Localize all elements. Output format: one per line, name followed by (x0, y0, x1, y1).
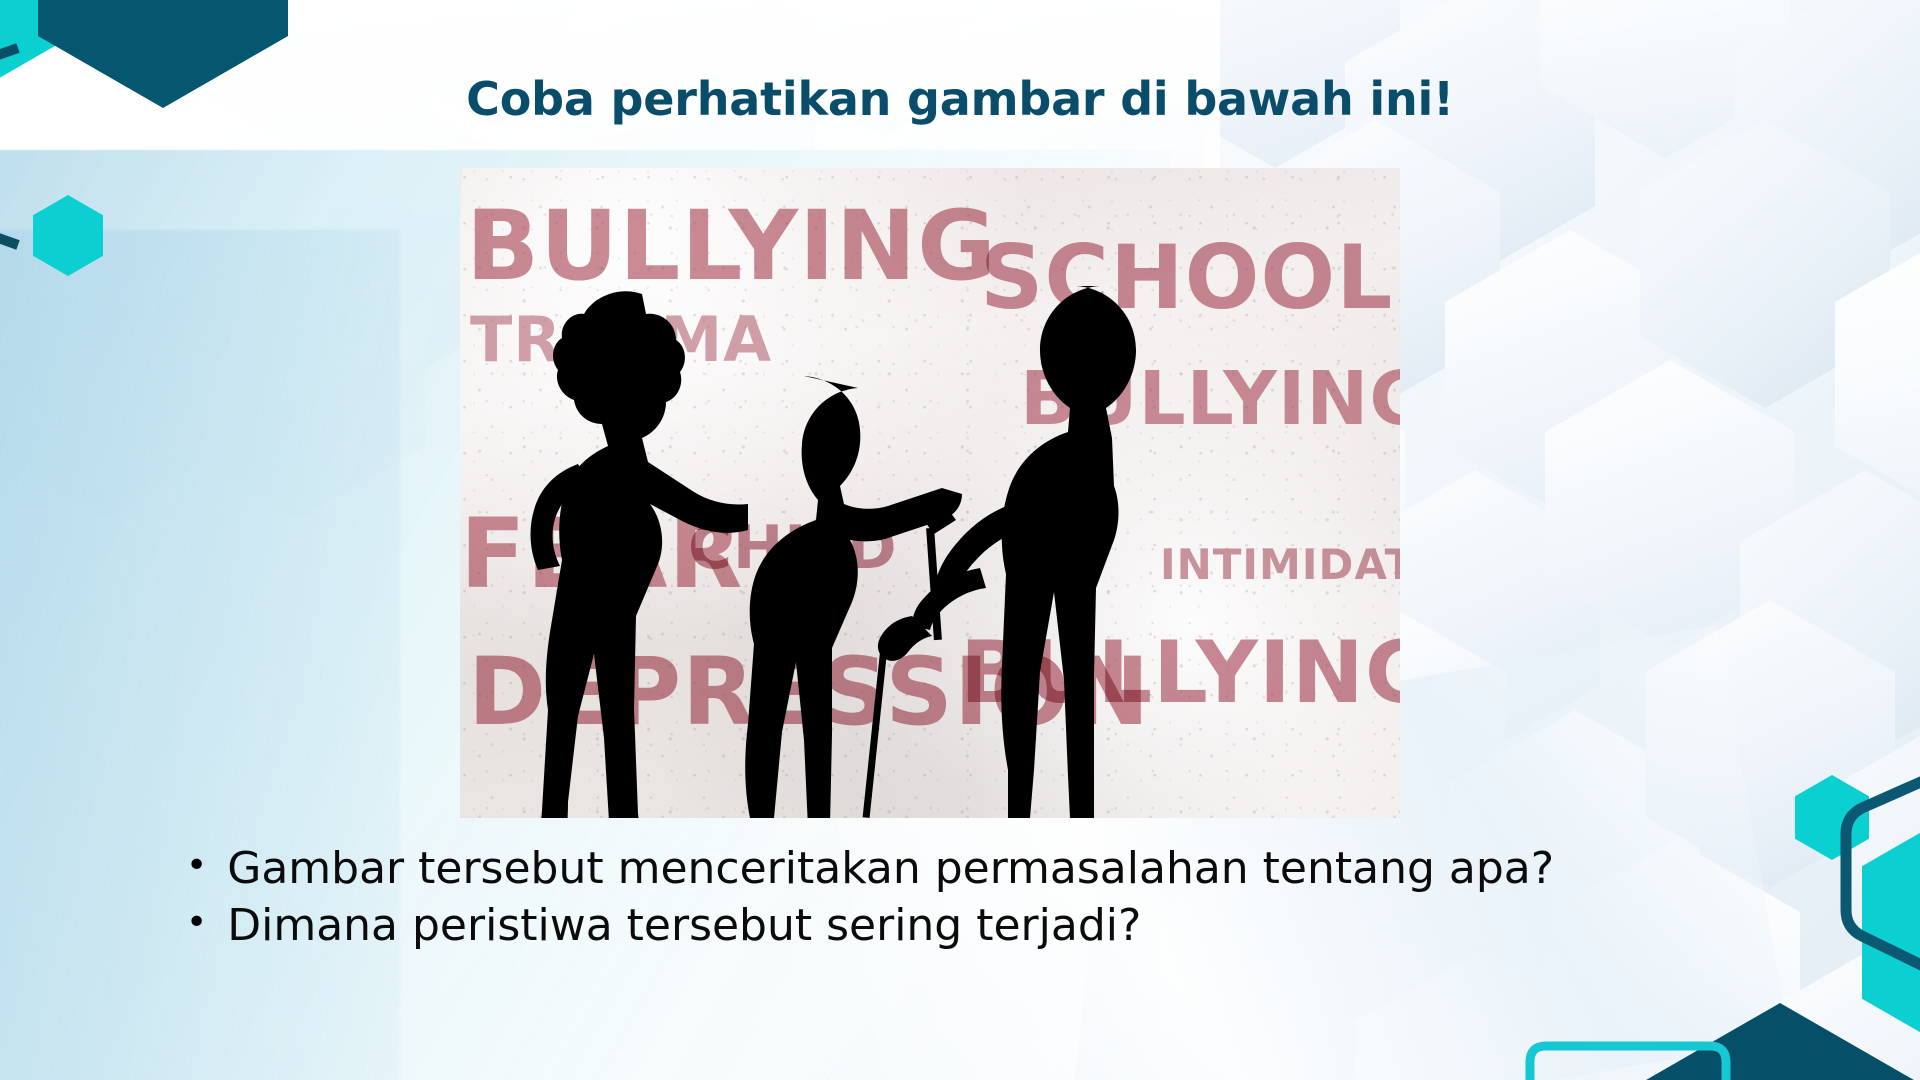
bullying-illustration: BULLYING TRAUMA SCHOOL BULLYING FEAR CHI… (460, 168, 1400, 818)
list-item: • Dimana peristiwa tersebut sering terja… (186, 897, 1746, 954)
silhouette-figures (460, 168, 1400, 818)
silhouette-bully-left (531, 291, 748, 818)
bullet-point-icon: • (186, 840, 207, 893)
list-item: • Gambar tersebut menceritakan permasala… (186, 840, 1746, 897)
presentation-slide: Coba perhatikan gambar di bawah ini! BUL… (0, 0, 1920, 1080)
bullet-text: Gambar tersebut menceritakan permasalaha… (227, 840, 1554, 897)
page-title: Coba perhatikan gambar di bawah ini! (0, 72, 1920, 126)
bullet-list: • Gambar tersebut menceritakan permasala… (186, 840, 1746, 954)
hexagon-outline-cyan-bottom-right-icon (1510, 1030, 1750, 1080)
hexagon-outline-dark-bottom-right-icon (1828, 760, 1920, 1010)
silhouette-bully-right (878, 286, 1136, 818)
bullet-text: Dimana peristiwa tersebut sering terjadi… (227, 897, 1141, 954)
bullet-point-icon: • (186, 897, 207, 950)
